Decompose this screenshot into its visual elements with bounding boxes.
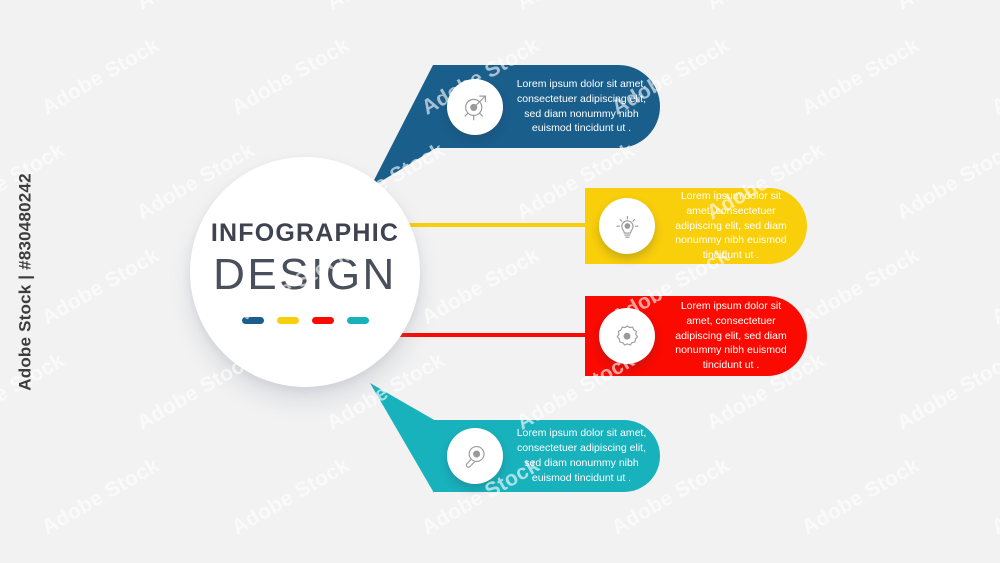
callout-1[interactable]: Lorem ipsum dolor sit amet, consectetuer… xyxy=(433,65,660,148)
callout-4[interactable]: Lorem ipsum dolor sit amet, consectetuer… xyxy=(433,420,660,492)
stock-credit-text: Adobe Stock | #830480242 xyxy=(16,173,36,390)
callout-2-text: Lorem ipsum dolor sit amet, consectetuer… xyxy=(655,189,807,264)
infographic-stage: Lorem ipsum dolor sit amet, consectetuer… xyxy=(0,0,1000,563)
magnifier-icon xyxy=(459,440,491,472)
callout-1-icon-badge xyxy=(447,79,503,135)
page-title-main: INFOGRAPHIC xyxy=(211,221,399,246)
callout-4-icon-badge xyxy=(447,428,503,484)
callout-2-pill: Lorem ipsum dolor sit amet, consectetuer… xyxy=(585,188,807,264)
callout-2[interactable]: Lorem ipsum dolor sit amet, consectetuer… xyxy=(585,188,807,264)
stock-credit: Adobe Stock | #830480242 xyxy=(6,0,46,563)
callout-3-icon-badge xyxy=(599,308,655,364)
callout-4-text: Lorem ipsum dolor sit amet, consectetuer… xyxy=(503,426,660,486)
dash-blue xyxy=(242,317,264,324)
page-title-sub: DESIGN xyxy=(213,253,397,297)
callout-3[interactable]: Lorem ipsum dolor sit amet, consectetuer… xyxy=(585,296,807,376)
callout-2-connector xyxy=(400,223,590,227)
dash-yellow xyxy=(277,317,299,324)
center-circle: INFOGRAPHIC DESIGN xyxy=(190,157,420,387)
callout-3-connector xyxy=(400,333,590,337)
callout-3-pill: Lorem ipsum dolor sit amet, consectetuer… xyxy=(585,296,807,376)
callout-1-pill: Lorem ipsum dolor sit amet, consectetuer… xyxy=(433,65,660,148)
gear-icon xyxy=(611,320,643,352)
callout-2-icon-badge xyxy=(599,198,655,254)
callout-3-text: Lorem ipsum dolor sit amet, consectetuer… xyxy=(655,299,807,374)
target-arrow-icon xyxy=(458,90,492,124)
dash-red xyxy=(312,317,334,324)
dash-teal xyxy=(347,317,369,324)
center-dashes xyxy=(242,317,369,324)
callout-4-pill: Lorem ipsum dolor sit amet, consectetuer… xyxy=(433,420,660,492)
callout-1-text: Lorem ipsum dolor sit amet, consectetuer… xyxy=(503,77,660,137)
lightbulb-icon xyxy=(611,210,643,242)
